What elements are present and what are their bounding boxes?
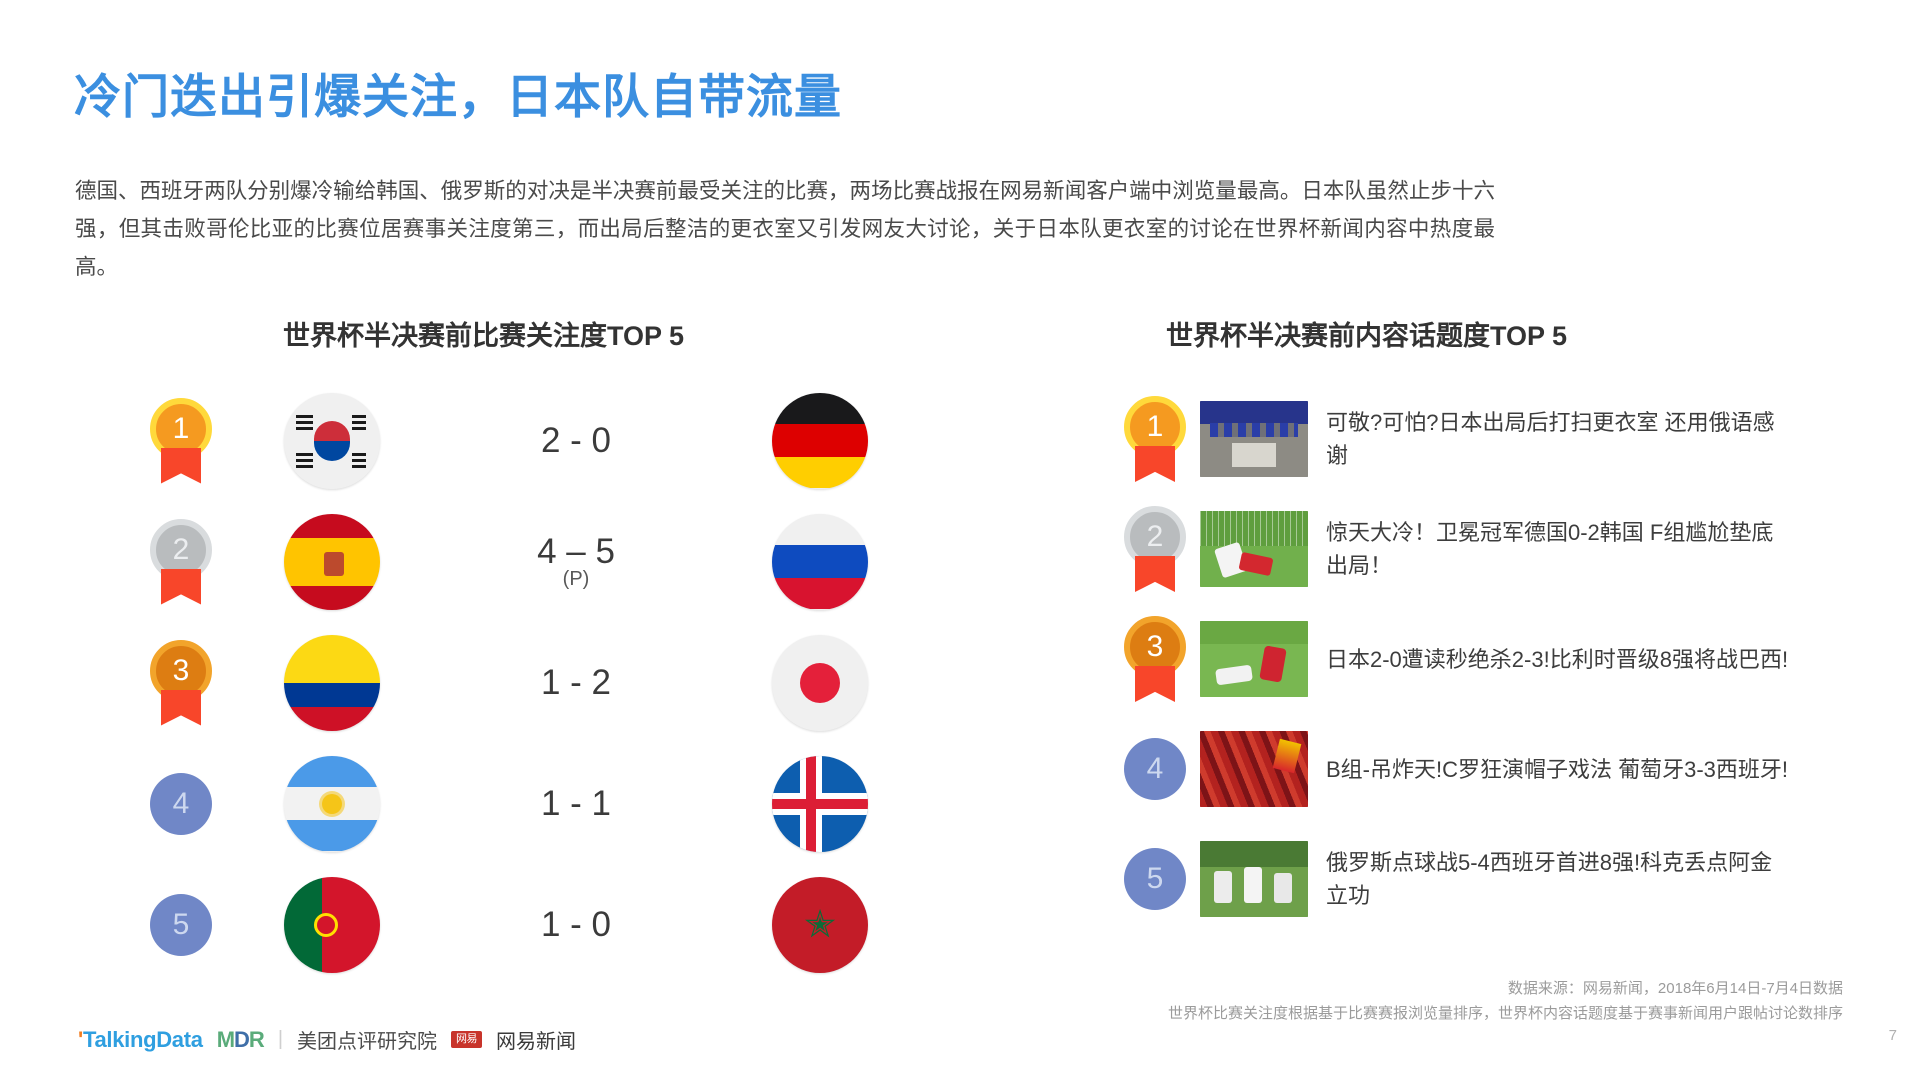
home-flag-cell	[242, 877, 422, 973]
ribbon-icon	[1135, 666, 1175, 702]
source-note: 数据来源：网易新闻，2018年6月14日-7月4日数据 世界杯比赛关注度根据基于…	[1168, 976, 1843, 1026]
rank-cell: 3	[120, 640, 242, 726]
score-cell: 1 - 2	[422, 664, 730, 702]
rank-badge-5: 5	[150, 894, 212, 956]
away-flag-cell: ✭	[730, 877, 910, 973]
rank-badge-4: 4	[150, 773, 212, 835]
table-row: 4 1 - 1	[120, 743, 910, 864]
score-cell: 2 - 0	[422, 422, 730, 460]
flag-korea-icon	[284, 393, 380, 489]
news-headline: 日本2-0遭读秒绝杀2-3!比利时晋级8强将战巴西!	[1326, 643, 1790, 676]
source-line-2: 世界杯比赛关注度根据基于比赛赛报浏览量排序，世界杯内容话题度基于赛事新闻用户跟帖…	[1168, 1001, 1843, 1026]
rank-cell: 5	[1110, 848, 1200, 910]
medal-silver-icon: 2	[1124, 506, 1186, 592]
news-headline: 俄罗斯点球战5-4西班牙首进8强!科克丢点阿金立功	[1326, 846, 1790, 912]
news-thumbnail-players-on-ground	[1200, 621, 1308, 697]
table-row: 3 1 - 2	[120, 622, 910, 743]
news-headline: 可敬?可怕?日本出局后打扫更衣室 还用俄语感谢	[1326, 406, 1790, 472]
home-flag-cell	[242, 393, 422, 489]
score-value: 1 - 0	[541, 905, 611, 944]
meituan-research-logo: 美团点评研究院	[297, 1025, 437, 1054]
rank-cell: 2	[120, 519, 242, 605]
netease-badge-icon: 网易	[451, 1031, 482, 1048]
news-thumbnail-goal-save	[1200, 511, 1308, 587]
flag-portugal-icon	[284, 877, 380, 973]
flag-russia-icon	[772, 514, 868, 610]
rank-badge-5: 5	[1124, 848, 1186, 910]
news-thumbnail-locker-room	[1200, 401, 1308, 477]
away-flag-cell	[730, 635, 910, 731]
list-item: 4 B组-吊炸天!C罗狂演帽子戏法 葡萄牙3-3西班牙!	[1110, 720, 1790, 818]
score-value: 1 - 2	[541, 663, 611, 702]
score-note: (P)	[422, 569, 730, 591]
away-flag-cell	[730, 756, 910, 852]
ribbon-icon	[161, 690, 201, 726]
source-line-1: 数据来源：网易新闻，2018年6月14日-7月4日数据	[1168, 976, 1843, 1001]
slide-root: 冷门迭出引爆关注，日本队自带流量 德国、西班牙两队分别爆冷输给韩国、俄罗斯的对决…	[0, 0, 1921, 1080]
ribbon-icon	[1135, 446, 1175, 482]
list-item: 5 俄罗斯点球战5-4西班牙首进8强!科克丢点阿金立功	[1110, 830, 1790, 928]
flag-spain-icon	[284, 514, 380, 610]
table-row: 2 4 – 5 (P)	[120, 501, 910, 622]
page-title: 冷门迭出引爆关注，日本队自带流量	[74, 58, 842, 127]
medal-silver-icon: 2	[150, 519, 212, 605]
news-headline: 惊天大冷！卫冕冠军德国0-2韩国 F组尴尬垫底出局！	[1326, 516, 1790, 582]
news-thumbnail-red-crowd	[1200, 731, 1308, 807]
list-item: 1 可敬?可怕?日本出局后打扫更衣室 还用俄语感谢	[1110, 390, 1790, 488]
rank-badge-4: 4	[1124, 738, 1186, 800]
rank-cell: 1	[1110, 396, 1200, 482]
rank-cell: 4	[120, 773, 242, 835]
medal-gold-icon: 1	[150, 398, 212, 484]
score-value: 2 - 0	[541, 421, 611, 460]
flag-argentina-icon	[284, 756, 380, 852]
score-value: 1 - 1	[541, 784, 611, 823]
talkingdata-logo: 'TalkingData	[78, 1027, 203, 1053]
score-cell: 4 – 5 (P)	[422, 533, 730, 590]
news-thumbnail-celebration	[1200, 841, 1308, 917]
match-ranking-table: 1	[120, 380, 910, 985]
table-row: 5 1 - 0 ✭	[120, 864, 910, 985]
page-number: 7	[1889, 1027, 1897, 1044]
flag-morocco-icon: ✭	[772, 877, 868, 973]
rank-cell: 1	[120, 398, 242, 484]
flag-japan-icon	[772, 635, 868, 731]
rank-cell: 4	[1110, 738, 1200, 800]
medal-gold-icon: 1	[1124, 396, 1186, 482]
table-row: 1	[120, 380, 910, 501]
medal-bronze-icon: 3	[1124, 616, 1186, 702]
list-item: 3 日本2-0遭读秒绝杀2-3!比利时晋级8强将战巴西!	[1110, 610, 1790, 708]
netease-news-logo: 网易新闻	[496, 1025, 576, 1054]
score-cell: 1 - 1	[422, 785, 730, 823]
ribbon-icon	[161, 448, 201, 484]
news-ranking-list: 1 可敬?可怕?日本出局后打扫更衣室 还用俄语感谢 2 惊天大冷！卫冕冠军德国0…	[1110, 390, 1790, 940]
flag-iceland-icon	[772, 756, 868, 852]
home-flag-cell	[242, 635, 422, 731]
section-heading-news: 世界杯半决赛前内容话题度TOP 5	[1166, 314, 1567, 353]
ribbon-icon	[1135, 556, 1175, 592]
news-headline: B组-吊炸天!C罗狂演帽子戏法 葡萄牙3-3西班牙!	[1326, 753, 1790, 786]
rank-cell: 5	[120, 894, 242, 956]
ribbon-icon	[161, 569, 201, 605]
section-heading-matches: 世界杯半决赛前比赛关注度TOP 5	[283, 314, 684, 353]
logo-divider: |	[278, 1028, 283, 1051]
mdr-logo: MDR	[217, 1027, 264, 1053]
score-value: 4 – 5	[537, 532, 615, 571]
medal-bronze-icon: 3	[150, 640, 212, 726]
flag-germany-icon	[772, 393, 868, 489]
flag-colombia-icon	[284, 635, 380, 731]
score-cell: 1 - 0	[422, 906, 730, 944]
list-item: 2 惊天大冷！卫冕冠军德国0-2韩国 F组尴尬垫底出局！	[1110, 500, 1790, 598]
home-flag-cell	[242, 756, 422, 852]
rank-cell: 3	[1110, 616, 1200, 702]
lede-paragraph: 德国、西班牙两队分别爆冷输给韩国、俄罗斯的对决是半决赛前最受关注的比赛，两场比赛…	[75, 172, 1495, 286]
away-flag-cell	[730, 393, 910, 489]
home-flag-cell	[242, 514, 422, 610]
away-flag-cell	[730, 514, 910, 610]
footer-logos: 'TalkingData MDR | 美团点评研究院 网易 网易新闻	[78, 1025, 576, 1054]
rank-cell: 2	[1110, 506, 1200, 592]
